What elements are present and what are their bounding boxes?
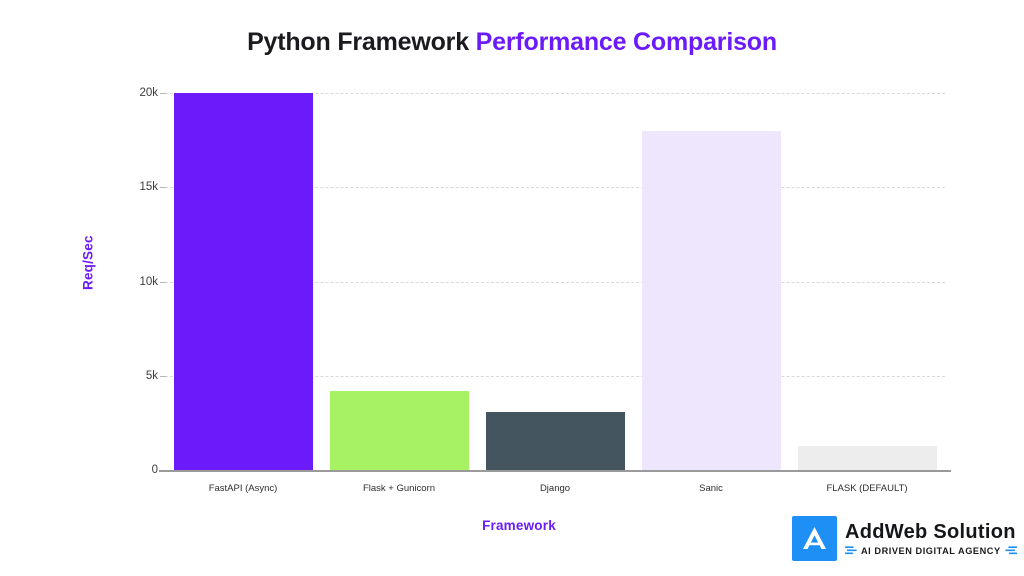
plot-area: [165, 93, 945, 470]
bar[interactable]: [798, 446, 937, 471]
y-axis-tick-label: 15k: [112, 181, 158, 193]
y-axis-tick: [160, 93, 166, 94]
y-axis-tick: [160, 376, 166, 377]
wing-left-icon: [845, 546, 857, 555]
chart-title-accent: Performance Comparison: [476, 28, 777, 56]
y-axis-tick: [160, 187, 166, 188]
x-axis-category-label: FLASK (DEFAULT): [789, 483, 945, 494]
x-axis-category-label: Django: [477, 483, 633, 494]
bar[interactable]: [174, 93, 313, 470]
y-axis-tick-labels: 05k10k15k20k: [106, 0, 158, 576]
addweb-logo-icon: [792, 516, 837, 561]
x-axis-category-label: Flask + Gunicorn: [321, 483, 477, 494]
brand-tagline-row: AI DRIVEN DIGITAL AGENCY: [845, 546, 1017, 556]
brand-tagline: AI DRIVEN DIGITAL AGENCY: [861, 546, 1001, 556]
x-axis-category-label: Sanic: [633, 483, 789, 494]
y-axis-tick: [160, 282, 166, 283]
bar[interactable]: [330, 391, 469, 470]
brand-name: AddWeb Solution: [845, 521, 1017, 544]
y-axis-tick-label: 0: [112, 464, 158, 476]
bar[interactable]: [486, 412, 625, 470]
x-axis-line: [159, 470, 951, 472]
y-axis-tick-label: 10k: [112, 276, 158, 288]
brand-logo: AddWeb Solution AI DRIVEN DIGITAL AGENCY: [792, 513, 1004, 563]
y-axis-tick-label: 20k: [112, 87, 158, 99]
x-axis-title: Framework: [165, 518, 873, 533]
x-axis-category-label: FastAPI (Async): [165, 483, 321, 494]
chart-title-primary: Python Framework: [247, 28, 476, 56]
y-axis-title: Req/Sec: [74, 218, 102, 308]
y-axis-tick-label: 5k: [112, 370, 158, 382]
bar[interactable]: [642, 131, 781, 470]
wing-right-icon: [1005, 546, 1017, 555]
chart-canvas: Python Framework Performance Comparison …: [0, 0, 1024, 576]
